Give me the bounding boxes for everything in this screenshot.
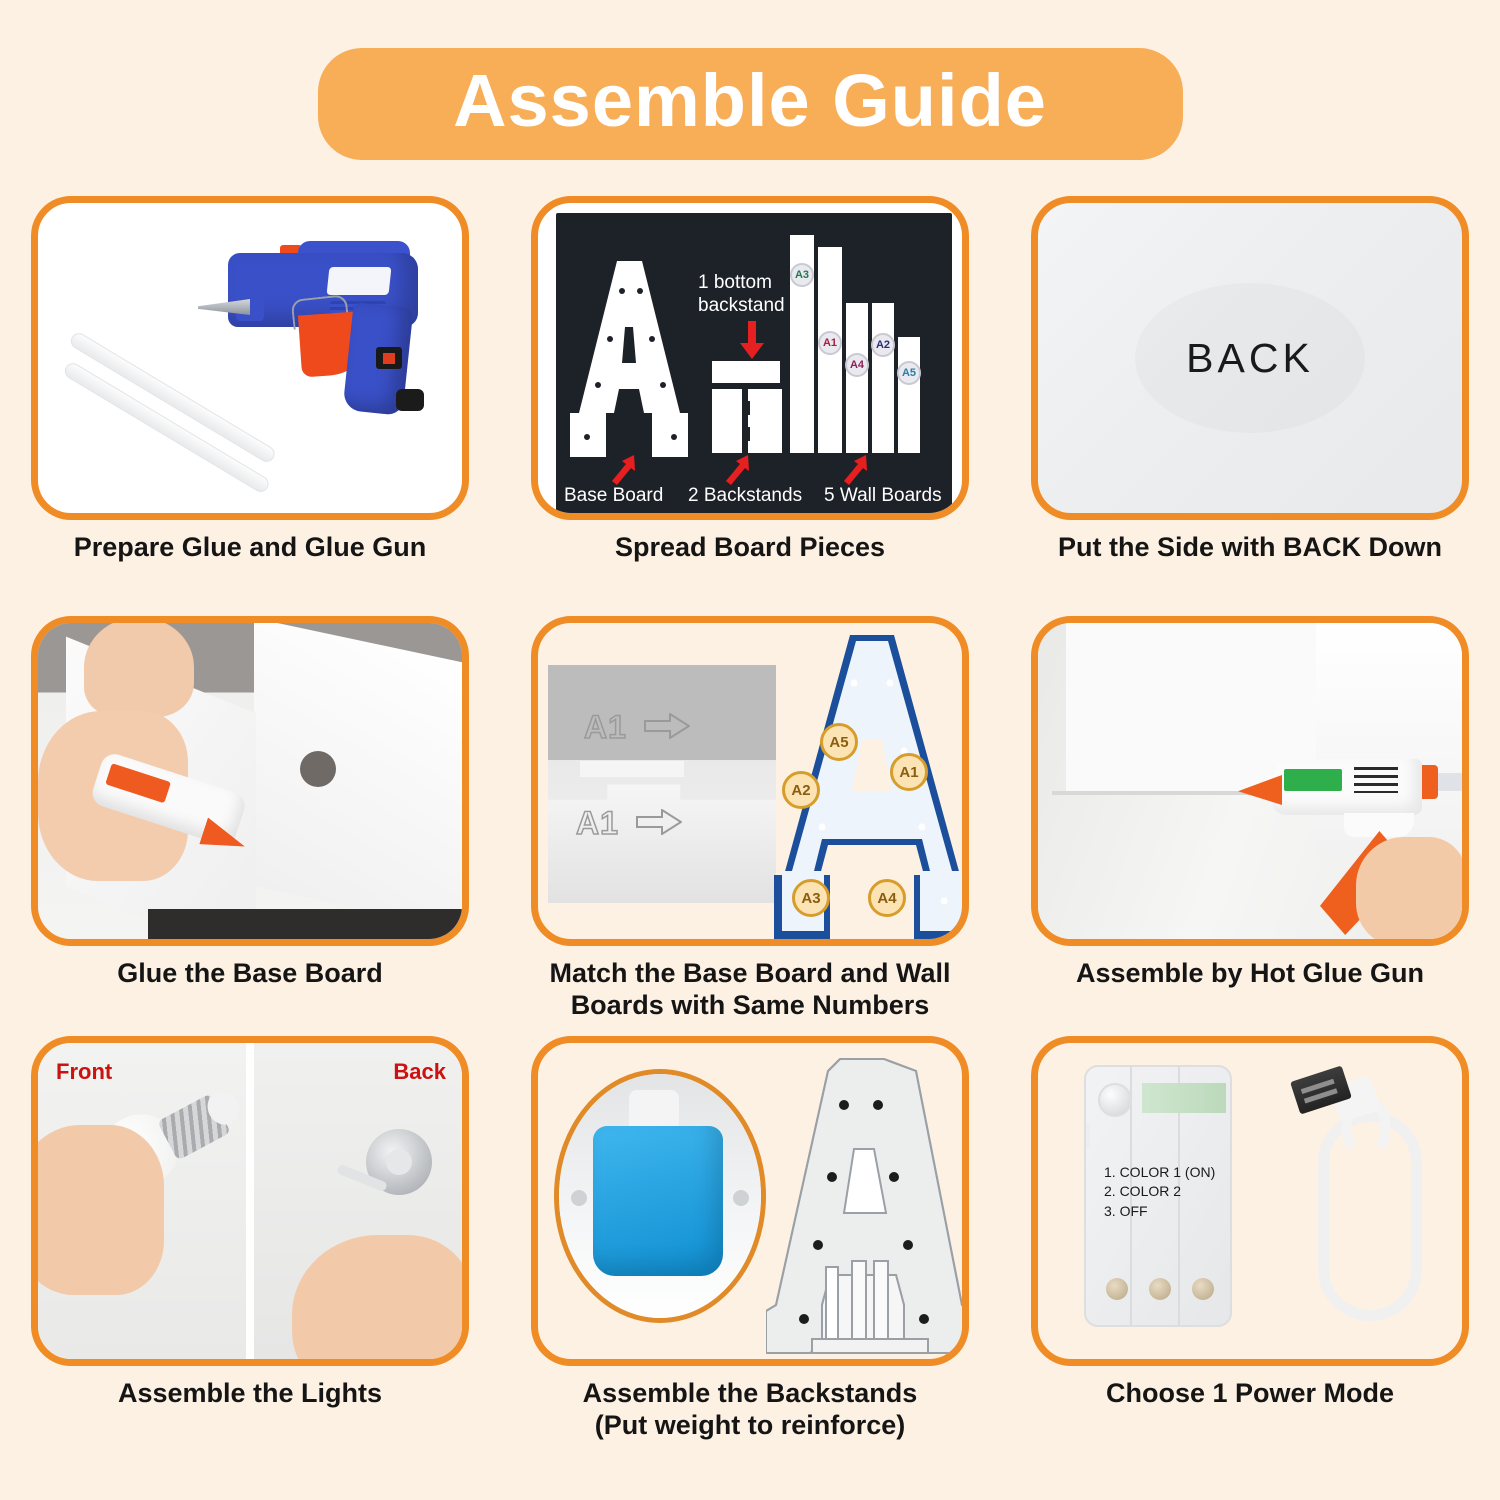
embossed-board-photo: A1 A1 xyxy=(548,665,776,903)
embossed-arrow-bottom-icon xyxy=(636,809,682,840)
wall-board-a5 xyxy=(898,337,920,453)
water-bag-icon xyxy=(593,1126,723,1276)
power-mode-1: 1. COLOR 1 (ON) xyxy=(1104,1163,1215,1182)
page-header: Assemble Guide xyxy=(0,48,1500,160)
step-image-6 xyxy=(1031,616,1469,946)
step-image-5: A1 A1 xyxy=(531,616,969,946)
backstand-right xyxy=(748,389,782,453)
letter-a-with-backstand-icon xyxy=(766,1053,969,1363)
chip-a3: A3 xyxy=(792,879,830,917)
step-caption-6: Assemble by Hot Glue Gun xyxy=(1076,958,1424,990)
power-mode-3: 3. OFF xyxy=(1104,1202,1215,1221)
power-mode-list: 1. COLOR 1 (ON) 2. COLOR 2 3. OFF xyxy=(1104,1163,1215,1221)
wall-board-a4 xyxy=(846,303,868,453)
backstand-left xyxy=(712,389,742,453)
label-backstands: 2 Backstands xyxy=(688,485,802,507)
step-caption-7: Assemble the Lights xyxy=(118,1378,382,1410)
step-caption-2: Spread Board Pieces xyxy=(615,532,885,564)
step-image-8 xyxy=(531,1036,969,1366)
embossed-label-a1-bottom: A1 xyxy=(576,805,619,842)
assemble-guide-page: Assemble Guide xyxy=(0,0,1500,1500)
step-caption-3: Put the Side with BACK Down xyxy=(1058,532,1442,564)
chip-a1: A1 xyxy=(818,331,842,355)
step-card-3: BACK Put the Side with BACK Down xyxy=(1000,196,1500,616)
label-base-board: Base Board xyxy=(564,485,663,507)
step-caption-8-line1: Assemble the Backstands xyxy=(583,1378,918,1410)
power-button-icon[interactable] xyxy=(1098,1083,1132,1117)
wall-board-a2 xyxy=(872,303,894,453)
back-label-oval: BACK xyxy=(1135,283,1365,433)
step-card-1: Prepare Glue and Glue Gun xyxy=(0,196,500,616)
step-image-1 xyxy=(31,196,469,520)
embossed-label-a1-top: A1 xyxy=(584,709,627,746)
step-image-3: BACK xyxy=(1031,196,1469,520)
chip-a5: A5 xyxy=(820,723,858,761)
step-image-9: 1. COLOR 1 (ON) 2. COLOR 2 3. OFF xyxy=(1031,1036,1469,1366)
bottom-backstand-note: 1 bottom backstand xyxy=(698,271,785,317)
hand-top-icon xyxy=(84,617,194,717)
step-caption-9: Choose 1 Power Mode xyxy=(1106,1378,1394,1410)
step-caption-5-line1: Match the Base Board and Wall xyxy=(549,958,950,990)
hand-icon xyxy=(1356,837,1466,946)
step-card-7: Front Back Assemble the Lights xyxy=(0,1036,500,1496)
back-label: Back xyxy=(393,1059,446,1085)
chip-a2: A2 xyxy=(871,333,895,357)
step-card-8: Assemble the Backstands (Put weight to r… xyxy=(500,1036,1000,1496)
front-label: Front xyxy=(56,1059,112,1085)
step-image-4 xyxy=(31,616,469,946)
step-card-5: A1 A1 xyxy=(500,616,1000,1036)
step-card-2: 1 bottom backstand xyxy=(500,196,1000,616)
steps-grid: Prepare Glue and Glue Gun xyxy=(0,196,1500,1496)
step-caption-8: Assemble the Backstands (Put weight to r… xyxy=(583,1378,918,1442)
chip-a4: A4 xyxy=(868,879,906,917)
board-right xyxy=(254,618,469,932)
glue-gun-icon xyxy=(180,239,440,429)
backstand-top xyxy=(712,361,780,383)
step-caption-5-line2: Boards with Same Numbers xyxy=(549,990,950,1022)
chip-a5: A5 xyxy=(897,361,921,385)
wall-boards-arrow-icon xyxy=(842,455,868,485)
label-wall-boards: 5 Wall Boards xyxy=(824,485,942,507)
step-caption-8-line2: (Put weight to reinforce) xyxy=(583,1410,918,1442)
front-view: Front xyxy=(38,1043,246,1359)
page-title: Assemble Guide xyxy=(388,62,1113,140)
hand-inserting-bulb-icon xyxy=(292,1235,462,1359)
back-view: Back xyxy=(254,1043,462,1359)
step-card-9: 1. COLOR 1 (ON) 2. COLOR 2 3. OFF Choose… xyxy=(1000,1036,1500,1496)
hand-holding-bulb-icon xyxy=(38,1125,164,1295)
power-mode-2: 2. COLOR 2 xyxy=(1104,1182,1215,1201)
step-caption-4: Glue the Base Board xyxy=(117,958,383,990)
hot-glue-gun-icon xyxy=(1238,751,1469,847)
step-caption-5: Match the Base Board and Wall Boards wit… xyxy=(549,958,950,1022)
chip-a1: A1 xyxy=(890,753,928,791)
back-text: BACK xyxy=(1186,335,1314,382)
embossed-arrow-top-icon xyxy=(644,713,690,744)
chip-a2: A2 xyxy=(782,771,820,809)
usb-cable-icon xyxy=(1290,1067,1440,1337)
chip-a3: A3 xyxy=(790,263,814,287)
title-pill: Assemble Guide xyxy=(318,48,1183,160)
bulb-hole xyxy=(300,751,336,787)
note-arrow-icon xyxy=(739,321,765,359)
step-card-4: Glue the Base Board xyxy=(0,616,500,1036)
backstands-arrow-icon xyxy=(724,455,750,485)
battery-box-icon: 1. COLOR 1 (ON) 2. COLOR 2 3. OFF xyxy=(1084,1065,1232,1327)
step-image-7: Front Back xyxy=(31,1036,469,1366)
step-image-2: 1 bottom backstand xyxy=(531,196,969,520)
water-bag-closeup xyxy=(554,1069,766,1323)
step-card-6: Assemble by Hot Glue Gun xyxy=(1000,616,1500,1036)
board-pieces-diagram: 1 bottom backstand xyxy=(556,213,952,515)
chip-a4: A4 xyxy=(845,353,869,377)
base-board-letter-a-icon xyxy=(570,261,688,457)
base-board-arrow-icon xyxy=(610,455,636,485)
step-caption-1: Prepare Glue and Glue Gun xyxy=(74,532,427,564)
